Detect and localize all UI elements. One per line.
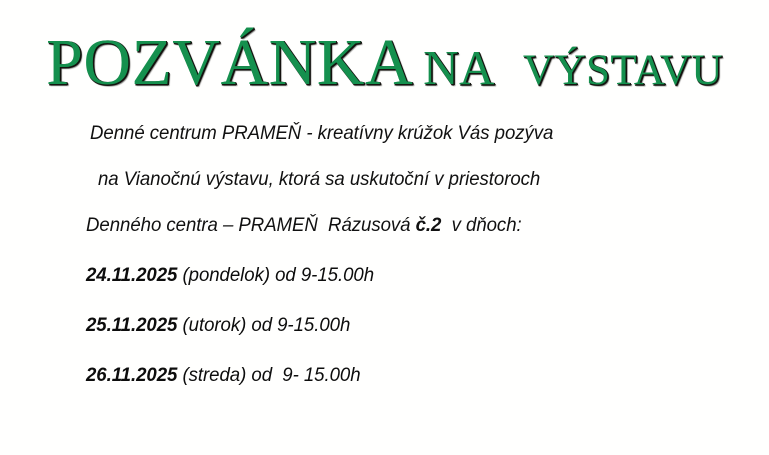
body-line-3-prefix: Denného centra – PRAMEŇ Rázusová <box>86 214 416 236</box>
body-line-3-address-number: č.2 <box>416 214 442 236</box>
date-row-3: 26.11.2025 (streda) od 9- 15.00h <box>86 366 361 386</box>
body-line-3: Denného centra – PRAMEŇ Rázusová č.2 v d… <box>86 216 522 236</box>
date-value-2: 25.11.2025 <box>86 314 177 336</box>
title-word-pozvanka: POZVÁNKA <box>46 30 413 96</box>
body-line-2: na Vianočnú výstavu, ktorá sa uskutoční … <box>98 170 540 190</box>
body-line-1: Denné centrum PRAMEŇ - kreatívny krúžok … <box>90 124 553 144</box>
title-word-na: NA <box>423 43 495 92</box>
date-details-1: (pondelok) od 9-15.00h <box>177 264 374 286</box>
date-value-1: 24.11.2025 <box>86 264 177 286</box>
date-value-3: 26.11.2025 <box>86 364 177 386</box>
date-row-2: 25.11.2025 (utorok) od 9-15.00h <box>86 316 350 336</box>
date-details-3: (streda) od 9- 15.00h <box>177 364 360 386</box>
date-details-2: (utorok) od 9-15.00h <box>177 314 350 336</box>
title-word-vystavu: VÝSTAVU <box>523 33 723 95</box>
date-row-1: 24.11.2025 (pondelok) od 9-15.00h <box>86 266 374 286</box>
poster-title: POZVÁNKANAVÝSTAVU <box>0 30 769 108</box>
poster-canvas: POZVÁNKANAVÝSTAVU Denné centrum PRAMEŇ -… <box>0 0 769 455</box>
body-line-3-suffix: v dňoch: <box>441 214 521 236</box>
